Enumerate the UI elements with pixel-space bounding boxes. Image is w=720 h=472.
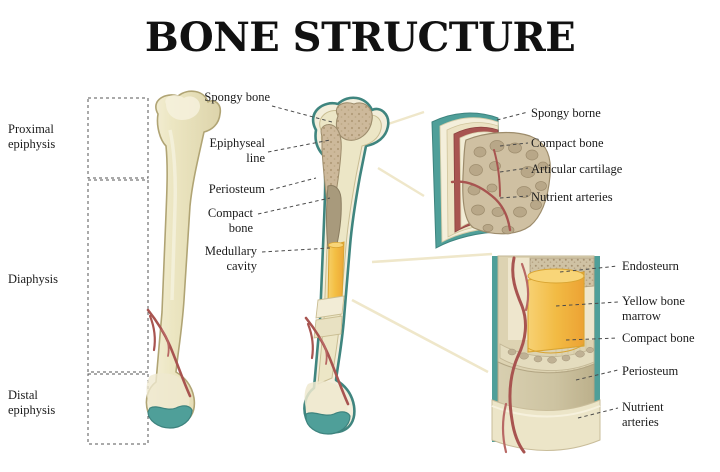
medullary-cavity (328, 242, 344, 304)
label-nutrient-arteries-epiphysis: Nutrient arteries (531, 190, 613, 205)
label-compact-bone-diaphysis: Compact bone (622, 331, 695, 346)
bracket-label-proximal-epiphysis: Proximal epiphysis (8, 122, 55, 152)
label-compact-bone: Compact bone (140, 206, 253, 236)
bone-structure-diagram: BONE STRUCTURE (0, 0, 720, 472)
label-endosteurn: Endosteurn (622, 259, 679, 274)
bracket-label-distal-epiphysis: Distal epiphysis (8, 388, 55, 418)
label-periosteum: Periosteum (140, 182, 265, 197)
label-spongy-borne: Spongy borne (531, 106, 601, 121)
label-compact-bone-epiphysis: Compact bone (531, 136, 604, 151)
label-spongy-bone: Spongy bone (150, 90, 270, 105)
region-brackets (88, 98, 148, 444)
label-periosteum-diaphysis: Periosteum (622, 364, 678, 379)
label-articular-cartilage: Articular cartilage (531, 162, 622, 177)
epiphysis-magnified-illustration (432, 113, 550, 248)
label-medullary-cavity: Medullary cavity (140, 244, 257, 274)
bracket-label-diaphysis: Diaphysis (8, 272, 58, 287)
label-epiphyseal-line: Epiphyseal line (140, 136, 265, 166)
yellow-marrow-cylinder (528, 269, 584, 353)
diaphysis-magnified-illustration (492, 256, 600, 452)
label-yellow-bone-marrow: Yellow bone marrow (622, 294, 685, 324)
label-nutrient-arteries-diaphysis: Nutrient arteries (622, 400, 664, 430)
femur-cutaway-illustration (304, 98, 388, 434)
diagram-canvas (0, 0, 720, 472)
